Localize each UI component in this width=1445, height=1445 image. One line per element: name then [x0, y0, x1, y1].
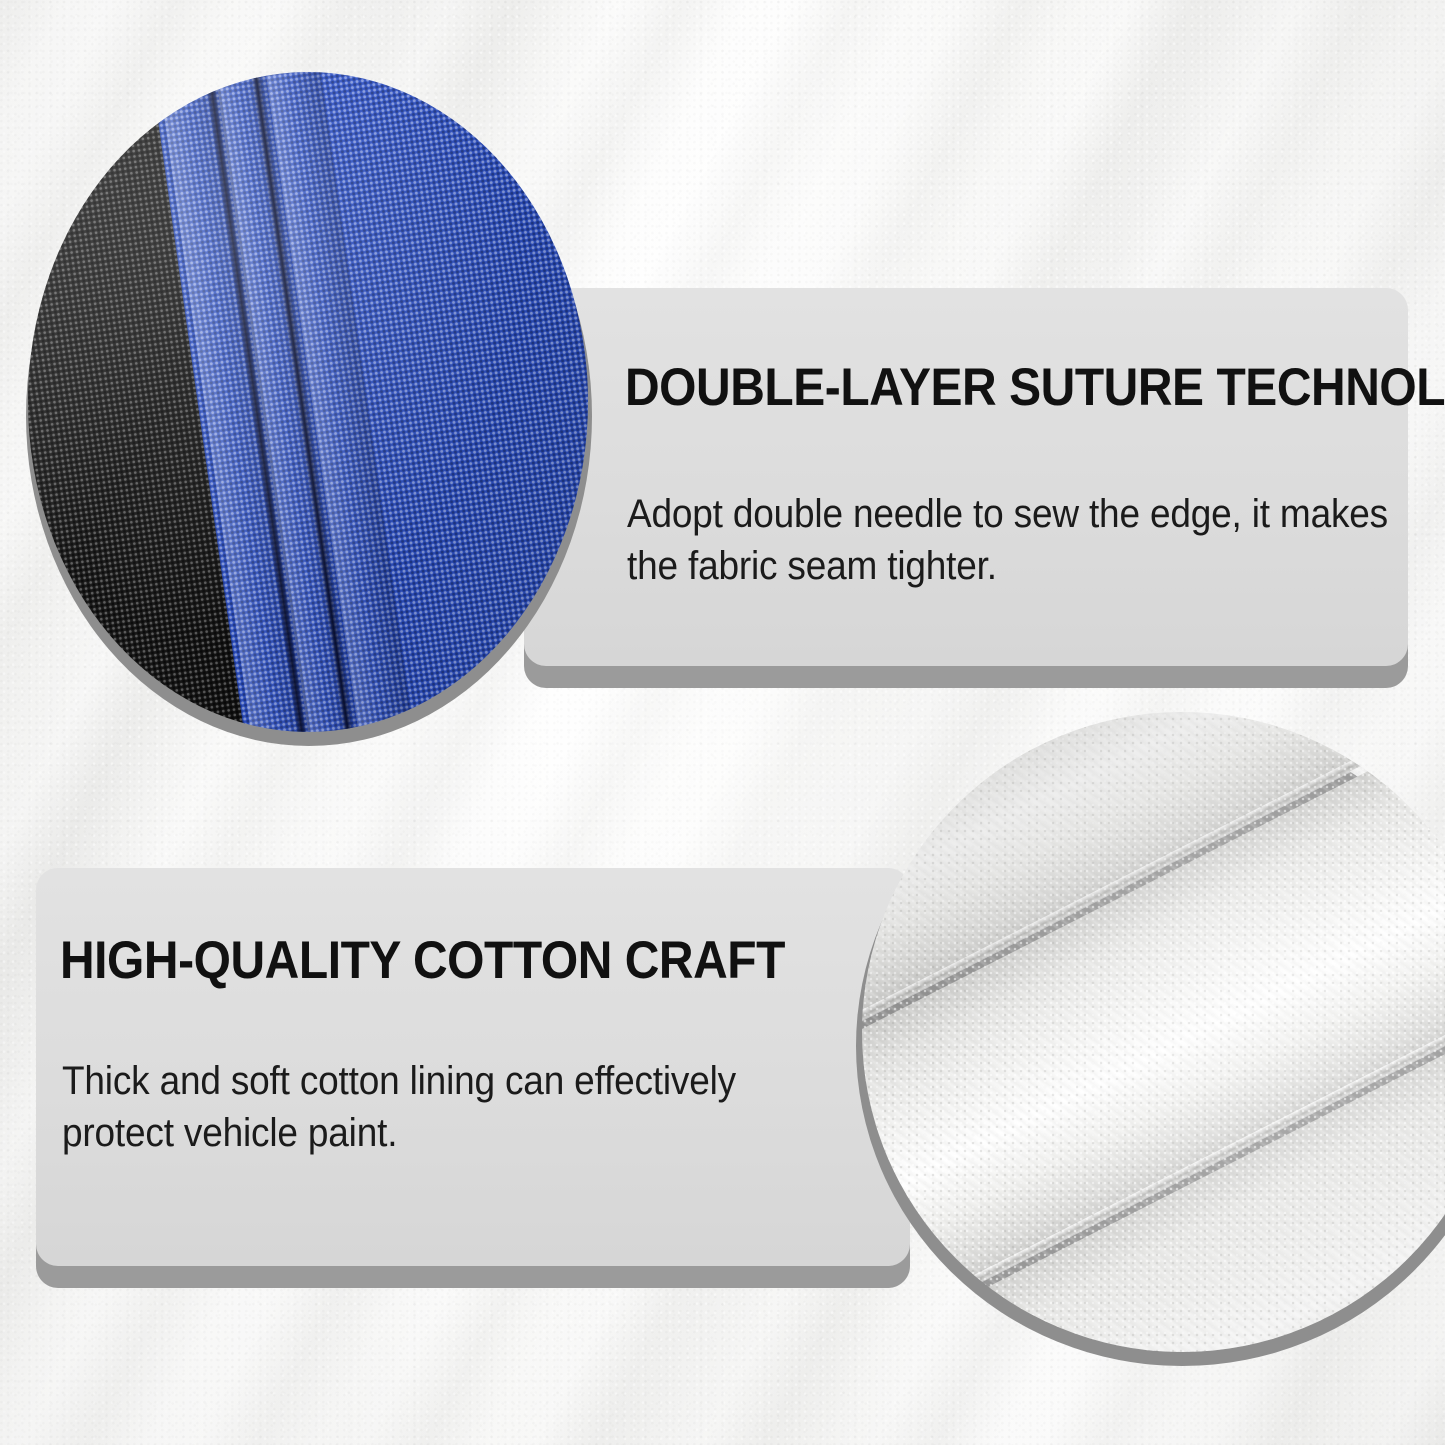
stitched-fabric-closeup-image	[28, 72, 588, 732]
cotton-disc-lighting	[862, 712, 1445, 1352]
feature-2-body-text: Thick and soft cotton lining can effecti…	[62, 1055, 830, 1159]
cotton-lining-closeup-image	[862, 712, 1445, 1352]
feature-1-body-text: Adopt double needle to sew the edge, it …	[627, 488, 1395, 592]
infographic-canvas: DOUBLE-LAYER SUTURE TECHNOLOGY Adopt dou…	[0, 0, 1445, 1445]
feature-2-heading: HIGH-QUALITY COTTON CRAFT	[60, 933, 785, 988]
fabric-disc-lighting	[28, 72, 588, 732]
feature-1-heading: DOUBLE-LAYER SUTURE TECHNOLOGY	[625, 360, 1445, 415]
feature-panel-1	[524, 288, 1408, 666]
